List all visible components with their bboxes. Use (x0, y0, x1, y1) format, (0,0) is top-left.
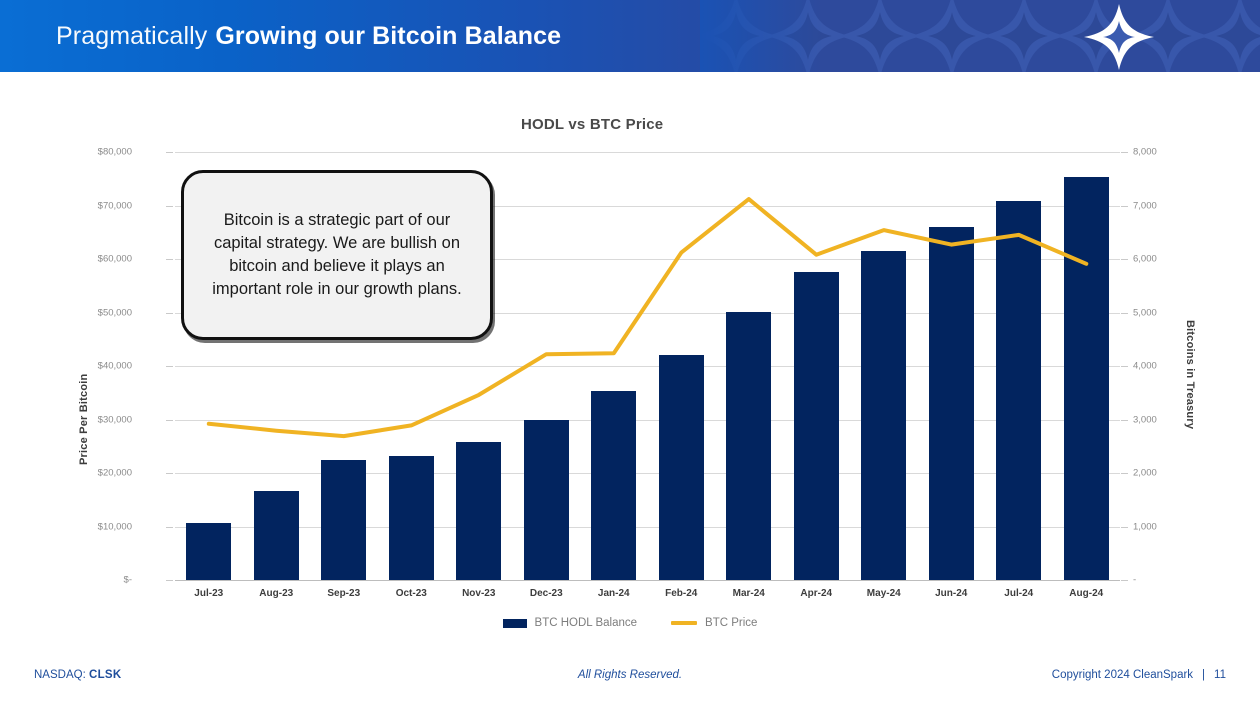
footer-separator: | (1202, 669, 1205, 681)
callout-box: Bitcoin is a strategic part of our capit… (181, 170, 493, 340)
y-axis-right-tick-mark (1121, 527, 1128, 528)
y-axis-right-tick-mark (1121, 313, 1128, 314)
y-axis-left-tick-label: $70,000 (98, 200, 132, 211)
legend-item-btc-price[interactable]: BTC Price (671, 617, 757, 629)
y-axis-left-tick-mark (166, 527, 173, 528)
y-axis-left-tick-label: $30,000 (98, 414, 132, 425)
y-axis-right-tick-mark (1121, 206, 1128, 207)
y-axis-right-tick-mark (1121, 259, 1128, 260)
chart-container: HODL vs BTC Price Price Per Bitcoin Bitc… (0, 72, 1260, 655)
y-axis-right-tick-label: 7,000 (1133, 200, 1157, 211)
page-footer: NASDAQ: CLSK All Rights Reserved. Copyri… (0, 655, 1260, 703)
y-axis-left-tick-mark (166, 420, 173, 421)
y-axis-left-tick-label: $20,000 (98, 468, 132, 479)
y-axis-left-tick-mark (166, 313, 173, 314)
y-axis-right-tick-mark (1121, 580, 1128, 581)
page-title-light: Pragmatically (56, 22, 207, 51)
footer-copyright: Copyright 2024 CleanSpark (1052, 669, 1193, 681)
y-axis-right-tick-label: 8,000 (1133, 147, 1157, 158)
chart-title: HODL vs BTC Price (521, 116, 663, 133)
axis-baseline (175, 580, 1120, 581)
y-axis-left-tick-label: $60,000 (98, 254, 132, 265)
y-axis-left-tick-label: $- (124, 575, 132, 586)
y-axis-right-tick-label: 3,000 (1133, 414, 1157, 425)
legend-label-hodl-balance: BTC HODL Balance (535, 617, 637, 629)
y-axis-right-tick-mark (1121, 473, 1128, 474)
y-axis-left-tick-mark (166, 259, 173, 260)
footer-page-number: 11 (1214, 669, 1226, 681)
y-axis-left-tick-label: $10,000 (98, 521, 132, 532)
legend-swatch-line-icon (671, 621, 697, 625)
y-axis-left-tick-label: $50,000 (98, 307, 132, 318)
y-axis-title-left: Price Per Bitcoin (76, 357, 92, 482)
y-axis-left-tick-mark (166, 473, 173, 474)
callout-text: Bitcoin is a strategic part of our capit… (184, 209, 490, 300)
y-axis-right-tick-mark (1121, 366, 1128, 367)
page-title-bold: Growing our Bitcoin Balance (215, 22, 561, 51)
y-axis-right-tick-label: 5,000 (1133, 307, 1157, 318)
y-axis-title-right: Bitcoins in Treasury (1182, 302, 1198, 447)
chart-legend: BTC HODL Balance BTC Price (0, 617, 1260, 629)
y-axis-left-tick-mark (166, 152, 173, 153)
page-header: Pragmatically Growing our Bitcoin Balanc… (0, 0, 1260, 72)
header-diamond-pattern (700, 0, 1260, 72)
y-axis-right-tick-label: 4,000 (1133, 361, 1157, 372)
page-title: Pragmatically Growing our Bitcoin Balanc… (56, 0, 561, 72)
y-axis-right-tick-mark (1121, 420, 1128, 421)
y-axis-right-tick-label: - (1133, 575, 1136, 586)
legend-item-hodl-balance[interactable]: BTC HODL Balance (503, 617, 637, 629)
y-axis-right-tick-label: 6,000 (1133, 254, 1157, 265)
y-axis-right-tick-label: 1,000 (1133, 521, 1157, 532)
y-axis-left-tick-mark (166, 580, 173, 581)
footer-copyright-group: Copyright 2024 CleanSpark | 11 (1052, 669, 1226, 681)
legend-swatch-bar-icon (503, 619, 527, 628)
y-axis-left-tick-mark (166, 206, 173, 207)
y-axis-left-tick-label: $80,000 (98, 147, 132, 158)
legend-label-btc-price: BTC Price (705, 617, 757, 629)
y-axis-right-tick-label: 2,000 (1133, 468, 1157, 479)
x-axis-label-Aug-24: Aug-24 (1046, 588, 1126, 599)
y-axis-right-tick-mark (1121, 152, 1128, 153)
y-axis-left-tick-label: $40,000 (98, 361, 132, 372)
cleanspark-star-logo-icon (1083, 4, 1155, 70)
y-axis-left-tick-mark (166, 366, 173, 367)
